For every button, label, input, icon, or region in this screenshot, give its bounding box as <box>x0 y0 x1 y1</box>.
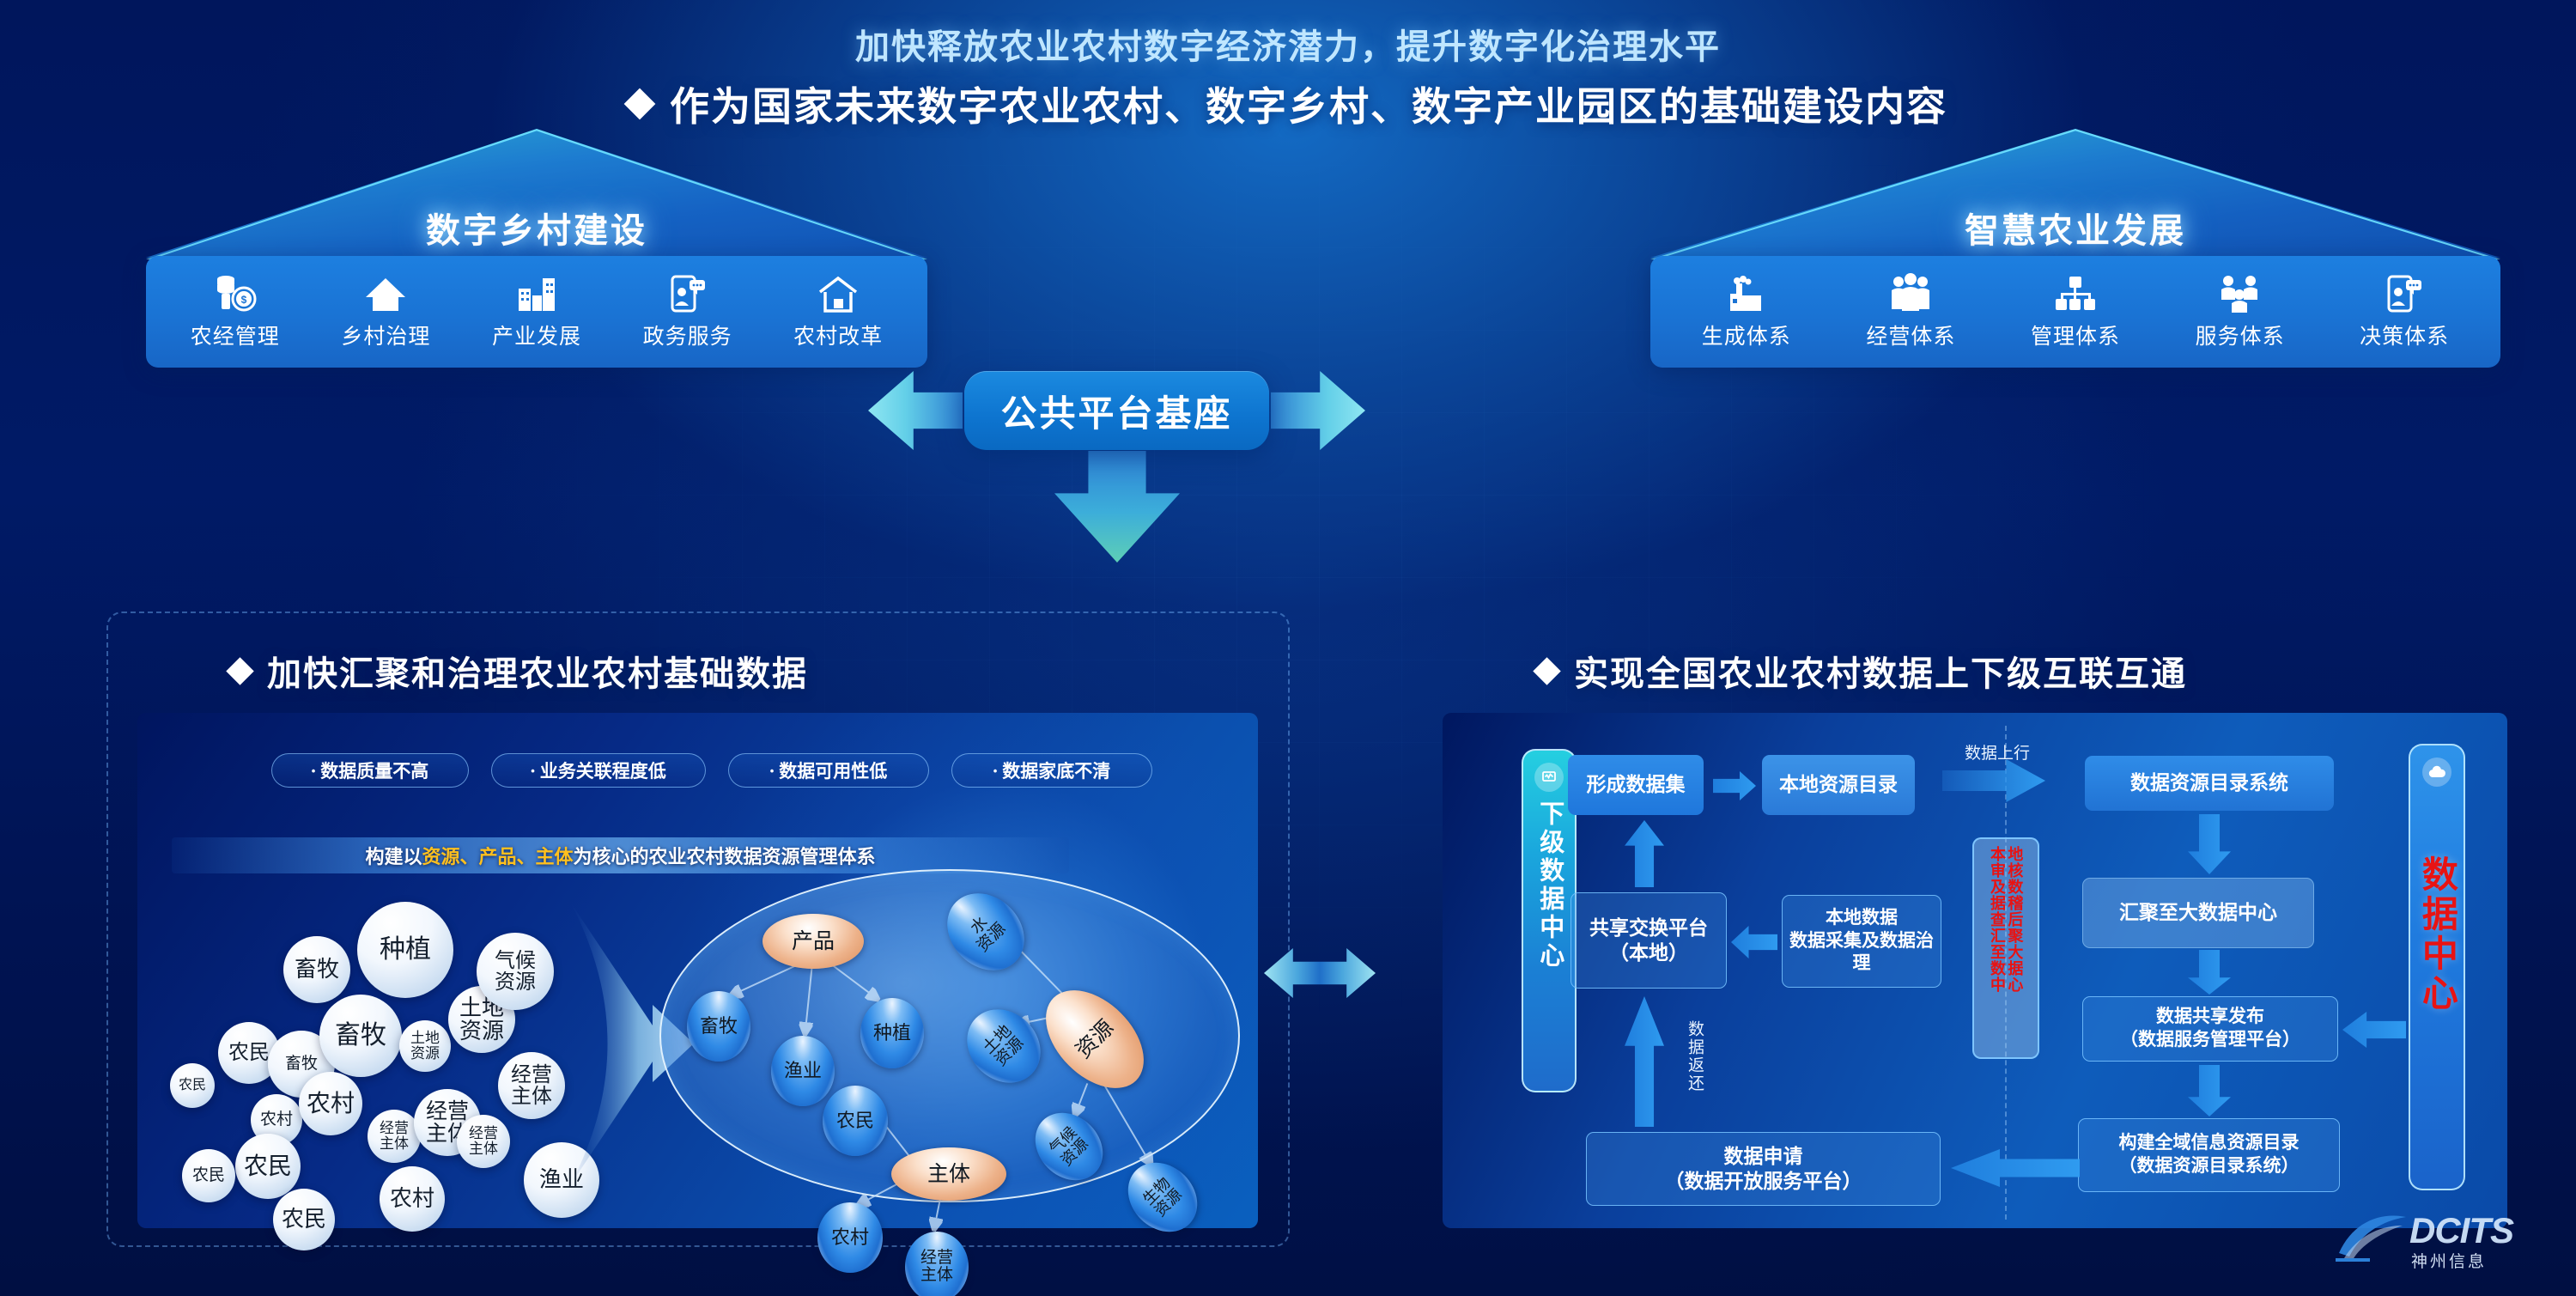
data-center-label-wrap: 数据中心 <box>2419 855 2456 1018</box>
right-pentagon-title: 智慧农业发展 <box>1650 203 2500 253</box>
label-data-return: 数据返还 <box>1683 1020 1706 1092</box>
right-pentagon-items: 生成体系 经营体系 <box>1650 256 2500 368</box>
item-industry-development[interactable]: 产业发展 <box>489 273 584 350</box>
ellipse-node: 主体 <box>891 1147 1006 1201</box>
flow-box-form-dataset[interactable]: 形成数据集 <box>1568 755 1704 815</box>
logo-mark-icon <box>2332 1207 2415 1267</box>
item-label: 乡村治理 <box>341 319 430 350</box>
company-logo: DCITS 神州信息 <box>2337 1195 2552 1277</box>
data-bubble: 农民 <box>170 1063 215 1108</box>
chip-dot-icon: • <box>993 764 998 777</box>
left-panel-heading-text: 加快汇聚和治理农业农村基础数据 <box>267 646 808 696</box>
data-bubble: 经营 主体 <box>498 1052 565 1119</box>
ellipse-node: 农民 <box>823 1086 888 1156</box>
item-label: 决策体系 <box>2360 319 2449 350</box>
red-note-box: 本审及据查汇至数中 地核数稽后聚大据心 <box>1972 837 2039 1059</box>
data-bubble: 农村 <box>299 1072 362 1135</box>
org-chart-icon <box>2054 273 2097 314</box>
data-bubble: 土地 资源 <box>399 1020 451 1072</box>
item-operation-system[interactable]: 经营体系 <box>1863 273 1958 350</box>
data-bubble: 经营 主体 <box>457 1115 510 1168</box>
ribbon-suffix: 为核心的农业农村数据资源管理体系 <box>574 842 876 869</box>
issue-chip-2[interactable]: • 业务关联程度低 <box>491 753 706 788</box>
item-label: 农村改革 <box>793 319 883 350</box>
flow-box-local-data-collection[interactable]: 本地数据 数据采集及数据治理 <box>1782 895 1941 988</box>
flow-box-data-publish[interactable]: 数据共享发布 （数据服务管理平台） <box>2082 996 2338 1062</box>
left-pentagon-items: $ 农经管理 乡村治理 <box>146 256 927 368</box>
mobile-service-icon <box>2384 273 2425 314</box>
issue-chip-1[interactable]: • 数据质量不高 <box>271 753 469 788</box>
data-bubble: 农民 <box>273 1189 335 1250</box>
red-note-col1: 地核数稽后聚大据心 <box>2007 846 2022 1050</box>
page-subtitle: 作为国家未来数字农业农村、数字乡村、数字产业园区的基础建设内容 <box>0 76 2576 132</box>
item-service-system[interactable]: 服务体系 <box>2193 273 2287 350</box>
diamond-bullet-icon <box>1533 657 1561 685</box>
core-concept-ribbon: 构建以资源、产品、主体为核心的农业农村数据资源管理体系 <box>172 837 1069 873</box>
mobile-service-icon <box>667 273 708 314</box>
core-platform-badge[interactable]: 公共平台基座 <box>964 371 1269 450</box>
chip-label: 数据可用性低 <box>779 758 887 783</box>
item-label: 生成体系 <box>1702 319 1791 350</box>
flow-box-exchange-platform[interactable]: 共享交换平台 （本地） <box>1571 892 1727 989</box>
ellipse-node: 种植 <box>860 998 924 1068</box>
item-label: 管理体系 <box>2031 319 2120 350</box>
arrow-right-icon <box>1271 371 1365 450</box>
people-group-icon <box>1888 273 1933 314</box>
right-panel-heading: 实现全国农业农村数据上下级互联互通 <box>1537 646 2187 696</box>
logo-subtitle: 神州信息 <box>2411 1249 2487 1272</box>
subordinate-data-center-label: 下级数据中心 <box>1536 800 1562 970</box>
chip-dot-icon: • <box>531 764 535 777</box>
flow-box-global-catalog[interactable]: 构建全域信息资源目录 （数据资源目录系统） <box>2078 1118 2340 1192</box>
item-management-system[interactable]: 管理体系 <box>2028 273 2123 350</box>
diamond-bullet-icon <box>226 657 254 685</box>
house-icon <box>364 273 407 314</box>
issue-chip-3[interactable]: • 数据可用性低 <box>728 753 929 788</box>
data-bubble: 畜牧 <box>319 995 402 1077</box>
ellipse-node: 经营 主体 <box>905 1232 969 1296</box>
data-bubble: 农民 <box>182 1149 235 1202</box>
flow-box-local-catalog[interactable]: 本地资源目录 <box>1762 755 1915 815</box>
item-label: 经营体系 <box>1866 319 1955 350</box>
page-subtitle-text: 作为国家未来数字农业农村、数字乡村、数字产业园区的基础建设内容 <box>670 76 1947 132</box>
service-people-icon <box>2218 273 2263 314</box>
money-stack-icon: $ <box>211 273 259 314</box>
data-center-bar[interactable]: 数据中心 <box>2409 744 2465 1190</box>
ellipse-node: 渔业 <box>771 1036 835 1106</box>
item-label: 服务体系 <box>2196 319 2285 350</box>
arrow-down-icon <box>1054 451 1180 563</box>
item-gov-service[interactable]: 政务服务 <box>641 273 735 350</box>
chip-label: 数据质量不高 <box>320 758 428 783</box>
chip-dot-icon: • <box>770 764 775 777</box>
ribbon-prefix: 构建以 <box>365 842 422 869</box>
item-rural-governance[interactable]: 乡村治理 <box>338 273 433 350</box>
data-bubble: 种植 <box>357 902 453 998</box>
buildings-icon <box>515 273 558 314</box>
diamond-bullet-icon <box>624 88 656 120</box>
item-label: 农经管理 <box>191 319 280 350</box>
chip-label: 数据家底不清 <box>1002 758 1110 783</box>
flow-box-data-application[interactable]: 数据申请 （数据开放服务平台） <box>1586 1132 1941 1206</box>
farm-house-icon <box>817 273 860 314</box>
ellipse-node: 畜牧 <box>687 991 750 1062</box>
right-pentagon-panel: 智慧农业发展 生成体系 <box>1650 129 2500 369</box>
data-center-label: 数据中心 <box>2419 855 2456 1013</box>
ellipse-node: 产品 <box>762 914 864 969</box>
right-panel-heading-text: 实现全国农业农村数据上下级互联互通 <box>1574 646 2187 696</box>
monitor-icon <box>1534 763 1564 792</box>
factory-icon <box>1725 273 1768 314</box>
left-panel-heading: 加快汇聚和治理农业农村基础数据 <box>230 646 808 696</box>
logo-wordmark: DCITS <box>2409 1210 2513 1251</box>
data-bubble: 气候 资源 <box>477 933 554 1010</box>
svg-text:$: $ <box>240 294 246 306</box>
left-pentagon-title: 数字乡村建设 <box>146 203 927 253</box>
page-title: 加快释放农业农村数字经济潜力，提升数字化治理水平 <box>0 19 2576 69</box>
item-label: 政务服务 <box>643 319 732 350</box>
item-decision-system[interactable]: 决策体系 <box>2357 273 2451 350</box>
data-bubble: 农村 <box>380 1166 445 1232</box>
item-label: 产业发展 <box>492 319 581 350</box>
ribbon-highlight: 资源、产品、主体 <box>422 842 573 869</box>
item-agri-economy[interactable]: $ 农经管理 <box>188 273 283 350</box>
item-production-system[interactable]: 生成体系 <box>1699 273 1794 350</box>
label-data-upload: 数据上行 <box>1965 740 2030 764</box>
ellipse-node: 农村 <box>817 1202 883 1273</box>
slide-canvas: 加快释放农业农村数字经济潜力，提升数字化治理水平 作为国家未来数字农业农村、数字… <box>0 0 2576 1296</box>
data-bubble: 畜牧 <box>283 936 350 1003</box>
left-pentagon-panel: 数字乡村建设 $ 农经管理 <box>146 129 927 369</box>
chip-dot-icon: • <box>312 764 316 777</box>
chip-label: 业务关联程度低 <box>540 758 666 783</box>
arrow-left-icon <box>868 371 963 450</box>
data-bubble: 经营 主体 <box>368 1110 421 1163</box>
flow-box-catalog-system[interactable]: 数据资源目录系统 <box>2085 756 2334 811</box>
red-note-col2: 本审及据查汇至数中 <box>1990 846 2005 1050</box>
item-rural-reform[interactable]: 农村改革 <box>791 273 885 350</box>
cloud-icon <box>2422 758 2451 787</box>
issue-chip-4[interactable]: • 数据家底不清 <box>951 753 1152 788</box>
flow-box-aggregate-to-bigdata[interactable]: 汇聚至大数据中心 <box>2082 878 2314 948</box>
data-bubble: 农民 <box>235 1134 301 1199</box>
structured-data-ellipse: 产品畜牧渔业种植农民主体农村经营 主体水 资源土地 资源资源气候 资源生物 资源 <box>659 869 1240 1202</box>
